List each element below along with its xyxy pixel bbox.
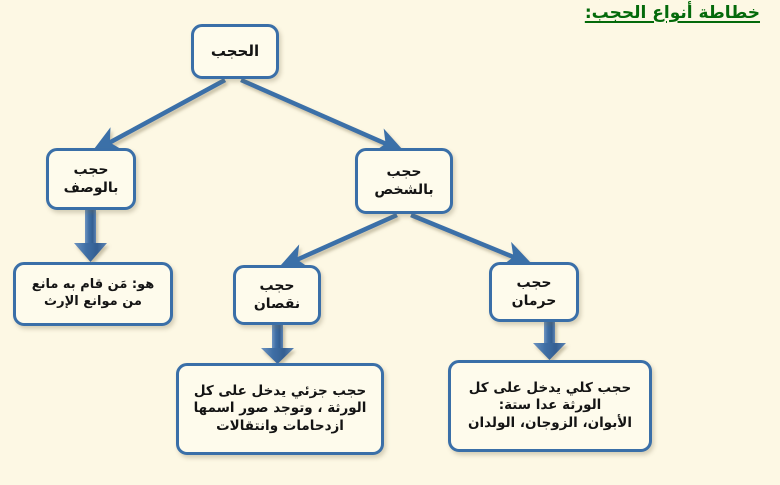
edge-by-person-to-deprivation bbox=[411, 215, 528, 263]
edge-root-to-by-description bbox=[96, 80, 225, 150]
node-deprivation-definition-label: حجب كلي يدخل على كل الورثة عدا ستة: الأب… bbox=[451, 380, 649, 433]
node-by-person-label: حجب بالشخص bbox=[358, 163, 450, 199]
node-by-description-definition-label: هو: مَن قام به مانع من موانع الإرث bbox=[16, 277, 170, 311]
node-root-label: الحجب bbox=[194, 42, 276, 62]
node-deprivation[interactable]: حجب حرمان bbox=[489, 262, 579, 322]
page-title: خطاطة أنواع الحجب: bbox=[585, 3, 760, 23]
node-reduction-definition[interactable]: حجب جزئي يدخل على كل الورثة ، وتوجد صور … bbox=[176, 363, 384, 455]
node-deprivation-definition[interactable]: حجب كلي يدخل على كل الورثة عدا ستة: الأب… bbox=[448, 360, 652, 452]
node-reduction-definition-label: حجب جزئي يدخل على كل الورثة ، وتوجد صور … bbox=[179, 383, 381, 436]
node-by-description-label: حجب بالوصف bbox=[49, 161, 133, 197]
node-by-description-definition[interactable]: هو: مَن قام به مانع من موانع الإرث bbox=[13, 262, 173, 326]
node-root[interactable]: الحجب bbox=[191, 24, 279, 79]
edge-by-person-to-reduction bbox=[283, 215, 397, 266]
edge-deprivation-to-definition bbox=[533, 321, 566, 360]
diagram-canvas: خطاطة أنواع الحجب: bbox=[0, 0, 780, 485]
node-by-person[interactable]: حجب بالشخص bbox=[355, 148, 453, 214]
edge-reduction-to-definition bbox=[261, 324, 294, 364]
node-by-description[interactable]: حجب بالوصف bbox=[46, 148, 136, 210]
edge-by-description-to-definition bbox=[74, 209, 107, 262]
node-reduction[interactable]: حجب نقصان bbox=[233, 265, 321, 325]
edge-root-to-by-person bbox=[241, 80, 400, 150]
node-deprivation-label: حجب حرمان bbox=[492, 274, 576, 310]
connector-layer bbox=[0, 0, 780, 485]
node-reduction-label: حجب نقصان bbox=[236, 277, 318, 313]
